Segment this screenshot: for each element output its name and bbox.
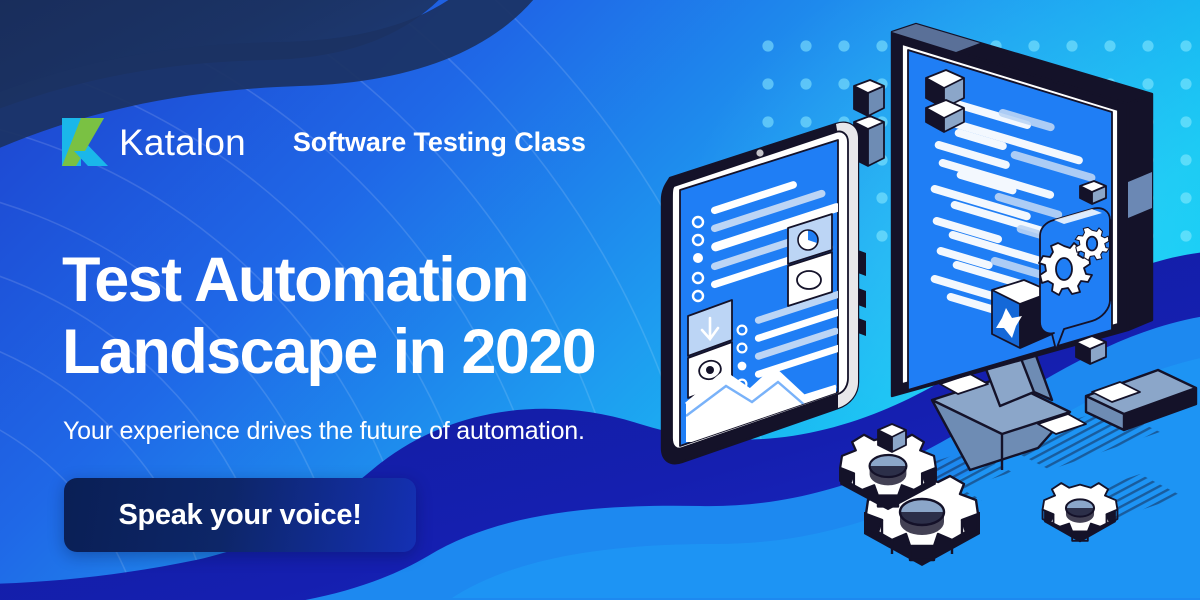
isometric-devices-illustration: .dk{fill:#141229} .wt{fill:#ffffff} .scr… bbox=[640, 0, 1200, 600]
headline-line-1: Test Automation bbox=[62, 245, 528, 315]
small-cube-icon bbox=[878, 424, 906, 452]
katalon-k-logo-icon bbox=[62, 118, 108, 166]
katalon-wordmark: Katalon bbox=[119, 124, 246, 161]
small-cube-icon bbox=[1076, 336, 1106, 364]
speak-your-voice-button[interactable]: Speak your voice! bbox=[64, 478, 416, 552]
banner-content: Katalon Software Testing Class Test Auto… bbox=[0, 0, 700, 600]
small-cube-icon bbox=[1080, 181, 1106, 204]
small-cube-icon bbox=[926, 70, 964, 132]
small-gear-icon bbox=[1043, 483, 1118, 542]
bar-object bbox=[1086, 370, 1196, 430]
katalon-promo-banner: .dk{fill:#141229} .wt{fill:#ffffff} .scr… bbox=[0, 0, 1200, 600]
brand-row: Katalon Software Testing Class bbox=[62, 118, 586, 166]
page-title: Test Automation Landscape in 2020 bbox=[62, 245, 702, 389]
subheadline: Your experience drives the future of aut… bbox=[63, 416, 585, 446]
eyebrow-label: Software Testing Class bbox=[293, 129, 586, 156]
headline-line-2: Landscape in 2020 bbox=[62, 317, 702, 389]
